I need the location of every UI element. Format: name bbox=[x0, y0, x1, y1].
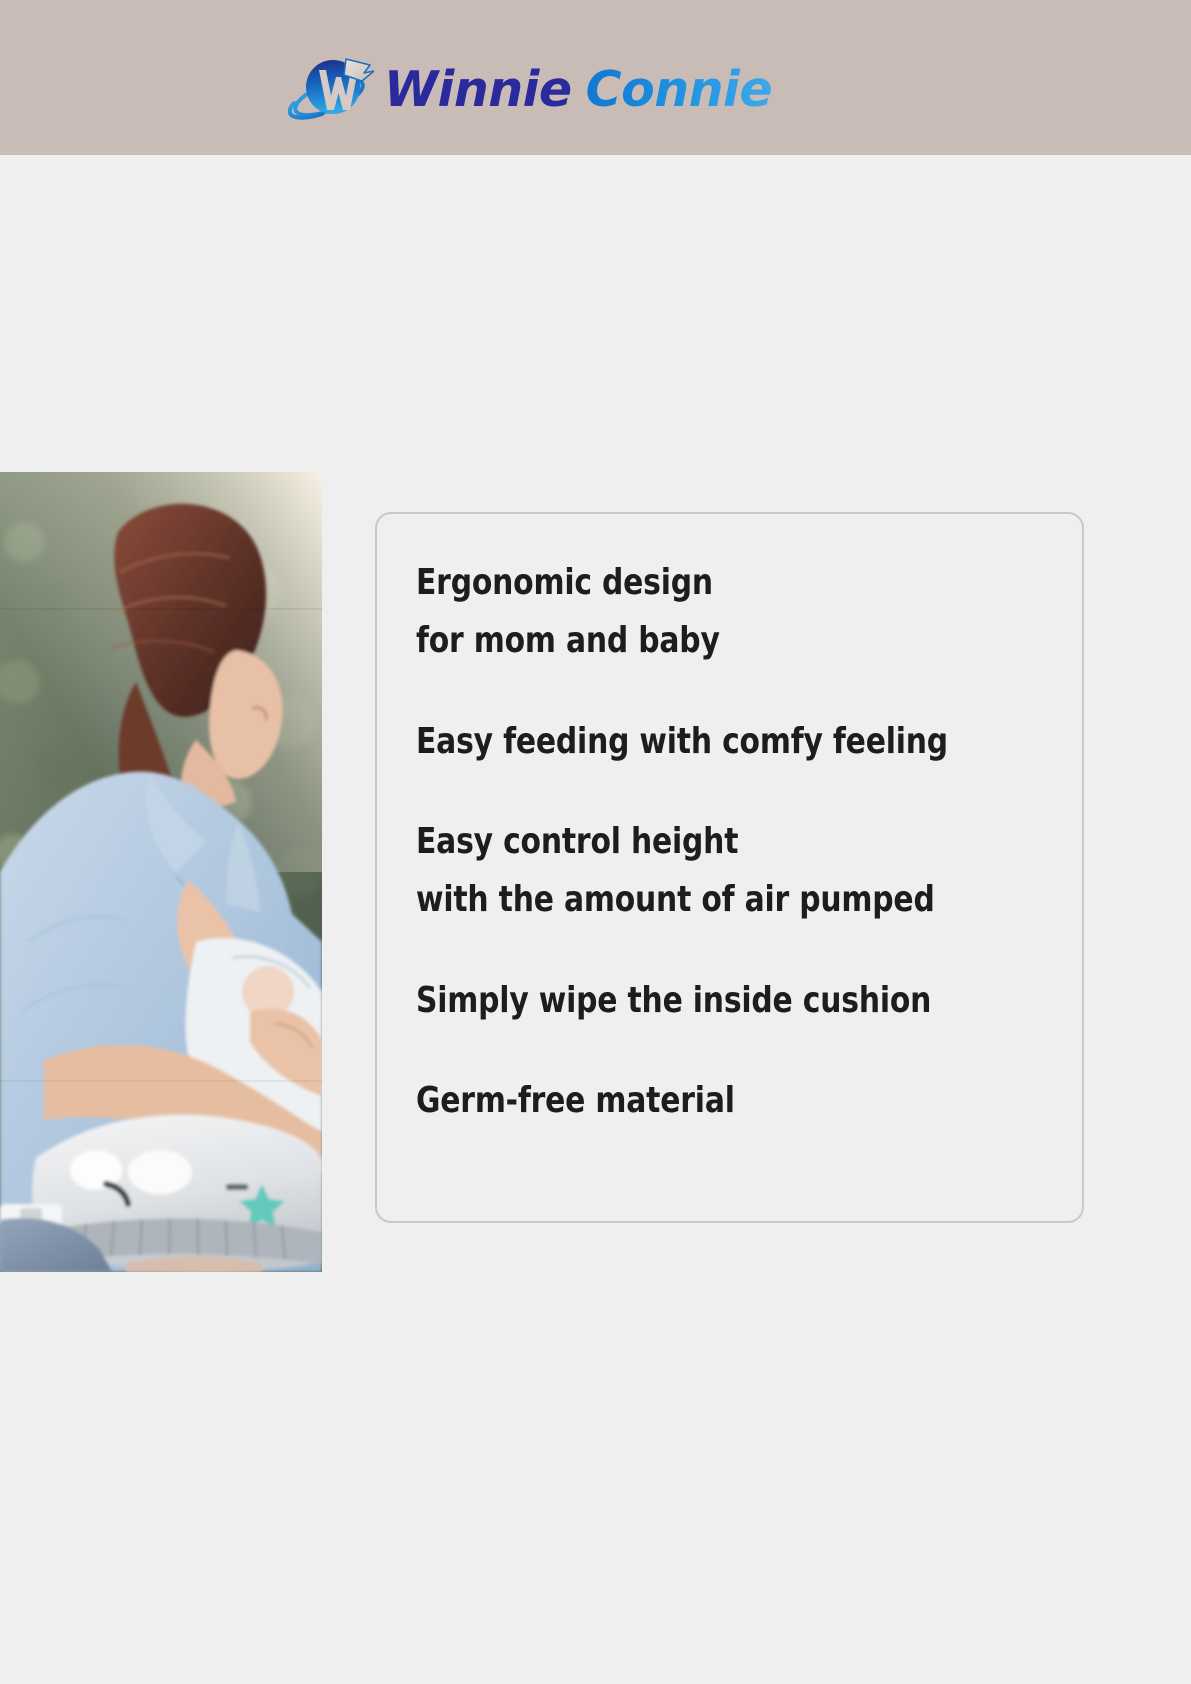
feature-item-ergonomic-design: Ergonomic design for mom and baby bbox=[416, 554, 1010, 671]
feature-item-easy-control-height: Easy control height with the amount of a… bbox=[416, 813, 1010, 930]
brand-wordmark: Winnie Connie bbox=[384, 65, 772, 114]
feature-list: Ergonomic design for mom and baby Easy f… bbox=[416, 554, 1062, 1130]
brand-word-winnie: Winnie bbox=[384, 65, 572, 114]
feature-item-simply-wipe: Simply wipe the inside cushion bbox=[416, 972, 1010, 1030]
winnie-connie-globe-w-logo-icon bbox=[288, 53, 374, 125]
brand-lockup[interactable]: Winnie Connie bbox=[288, 53, 772, 125]
feature-item-easy-feeding: Easy feeding with comfy feeling bbox=[416, 713, 1010, 771]
mother-nursing-baby-photo bbox=[0, 472, 322, 1272]
brand-word-connie: Connie bbox=[586, 65, 772, 114]
feature-item-germ-free-material: Germ-free material bbox=[416, 1072, 1010, 1130]
feature-highlights-card: Ergonomic design for mom and baby Easy f… bbox=[375, 512, 1084, 1223]
header-band: Winnie Connie bbox=[0, 0, 1191, 155]
